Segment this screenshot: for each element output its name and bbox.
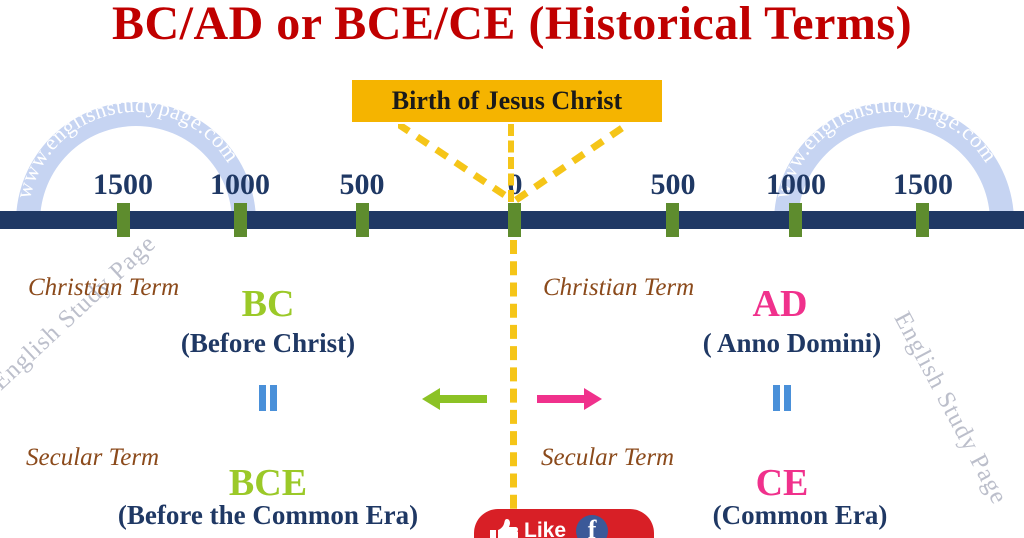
arc-band-right bbox=[774, 102, 1014, 222]
left-expansion-before-christ: (Before Christ) bbox=[181, 328, 355, 359]
diagonal-watermark-left: English Study Page bbox=[0, 230, 162, 396]
zero-divider-line bbox=[510, 240, 517, 530]
left-expansion-before-common-era: (Before the Common Era) bbox=[118, 500, 418, 531]
timeline-label-1000-bc: 1000 bbox=[210, 168, 270, 202]
callout-ray-right bbox=[510, 124, 630, 204]
callout-ray-left bbox=[398, 124, 518, 204]
timeline-label-500-ad: 500 bbox=[651, 168, 696, 202]
diagonal-watermark-right: English Study Page bbox=[888, 307, 1013, 509]
infographic-canvas: BC/AD or BCE/CE (Historical Terms) www.e… bbox=[0, 0, 1024, 538]
facebook-like-widget[interactable]: Like f bbox=[474, 509, 654, 538]
timeline-tick-zero bbox=[508, 203, 521, 237]
arrow-left-icon bbox=[422, 386, 487, 412]
facebook-like-label: Like bbox=[524, 519, 566, 538]
thumbs-up-icon bbox=[488, 517, 518, 538]
left-secular-term-label: Secular Term bbox=[26, 444, 159, 472]
right-secular-term-label: Secular Term bbox=[541, 444, 674, 472]
right-abbr-ad: AD bbox=[753, 282, 808, 326]
page-title: BC/AD or BCE/CE (Historical Terms) bbox=[0, 0, 1024, 51]
arc-band-left bbox=[16, 102, 256, 222]
birth-callout-box: Birth of Jesus Christ bbox=[352, 80, 662, 122]
right-expansion-anno-domini: ( Anno Domini) bbox=[703, 328, 882, 359]
right-expansion-common-era: (Common Era) bbox=[713, 500, 888, 531]
left-equals-bar-2 bbox=[270, 385, 277, 411]
timeline-label-1500-bc: 1500 bbox=[93, 168, 153, 202]
timeline-tick-500-ad bbox=[666, 203, 679, 237]
timeline-tick-1000-ad bbox=[789, 203, 802, 237]
timeline-tick-1500-ad bbox=[916, 203, 929, 237]
left-christian-term-label: Christian Term bbox=[28, 274, 179, 302]
birth-callout-label: Birth of Jesus Christ bbox=[392, 86, 622, 116]
right-christian-term-label: Christian Term bbox=[543, 274, 694, 302]
right-equals-bar-2 bbox=[784, 385, 791, 411]
timeline-label-zero: 0 bbox=[508, 168, 523, 202]
left-abbr-bc: BC bbox=[242, 282, 295, 326]
left-abbr-bce: BCE bbox=[229, 461, 307, 505]
timeline-tick-500-bc bbox=[356, 203, 369, 237]
timeline-tick-1500-bc bbox=[117, 203, 130, 237]
timeline-label-1500-ad: 1500 bbox=[893, 168, 953, 202]
right-abbr-ce: CE bbox=[756, 461, 809, 505]
left-equals-bar-1 bbox=[259, 385, 266, 411]
timeline-label-500-bc: 500 bbox=[340, 168, 385, 202]
timeline-label-1000-ad: 1000 bbox=[766, 168, 826, 202]
facebook-brand-icon: f bbox=[576, 515, 608, 538]
left-equals-sign bbox=[257, 385, 279, 411]
timeline-tick-1000-bc bbox=[234, 203, 247, 237]
right-equals-sign bbox=[771, 385, 793, 411]
arrow-right-icon bbox=[537, 386, 602, 412]
right-equals-bar-1 bbox=[773, 385, 780, 411]
